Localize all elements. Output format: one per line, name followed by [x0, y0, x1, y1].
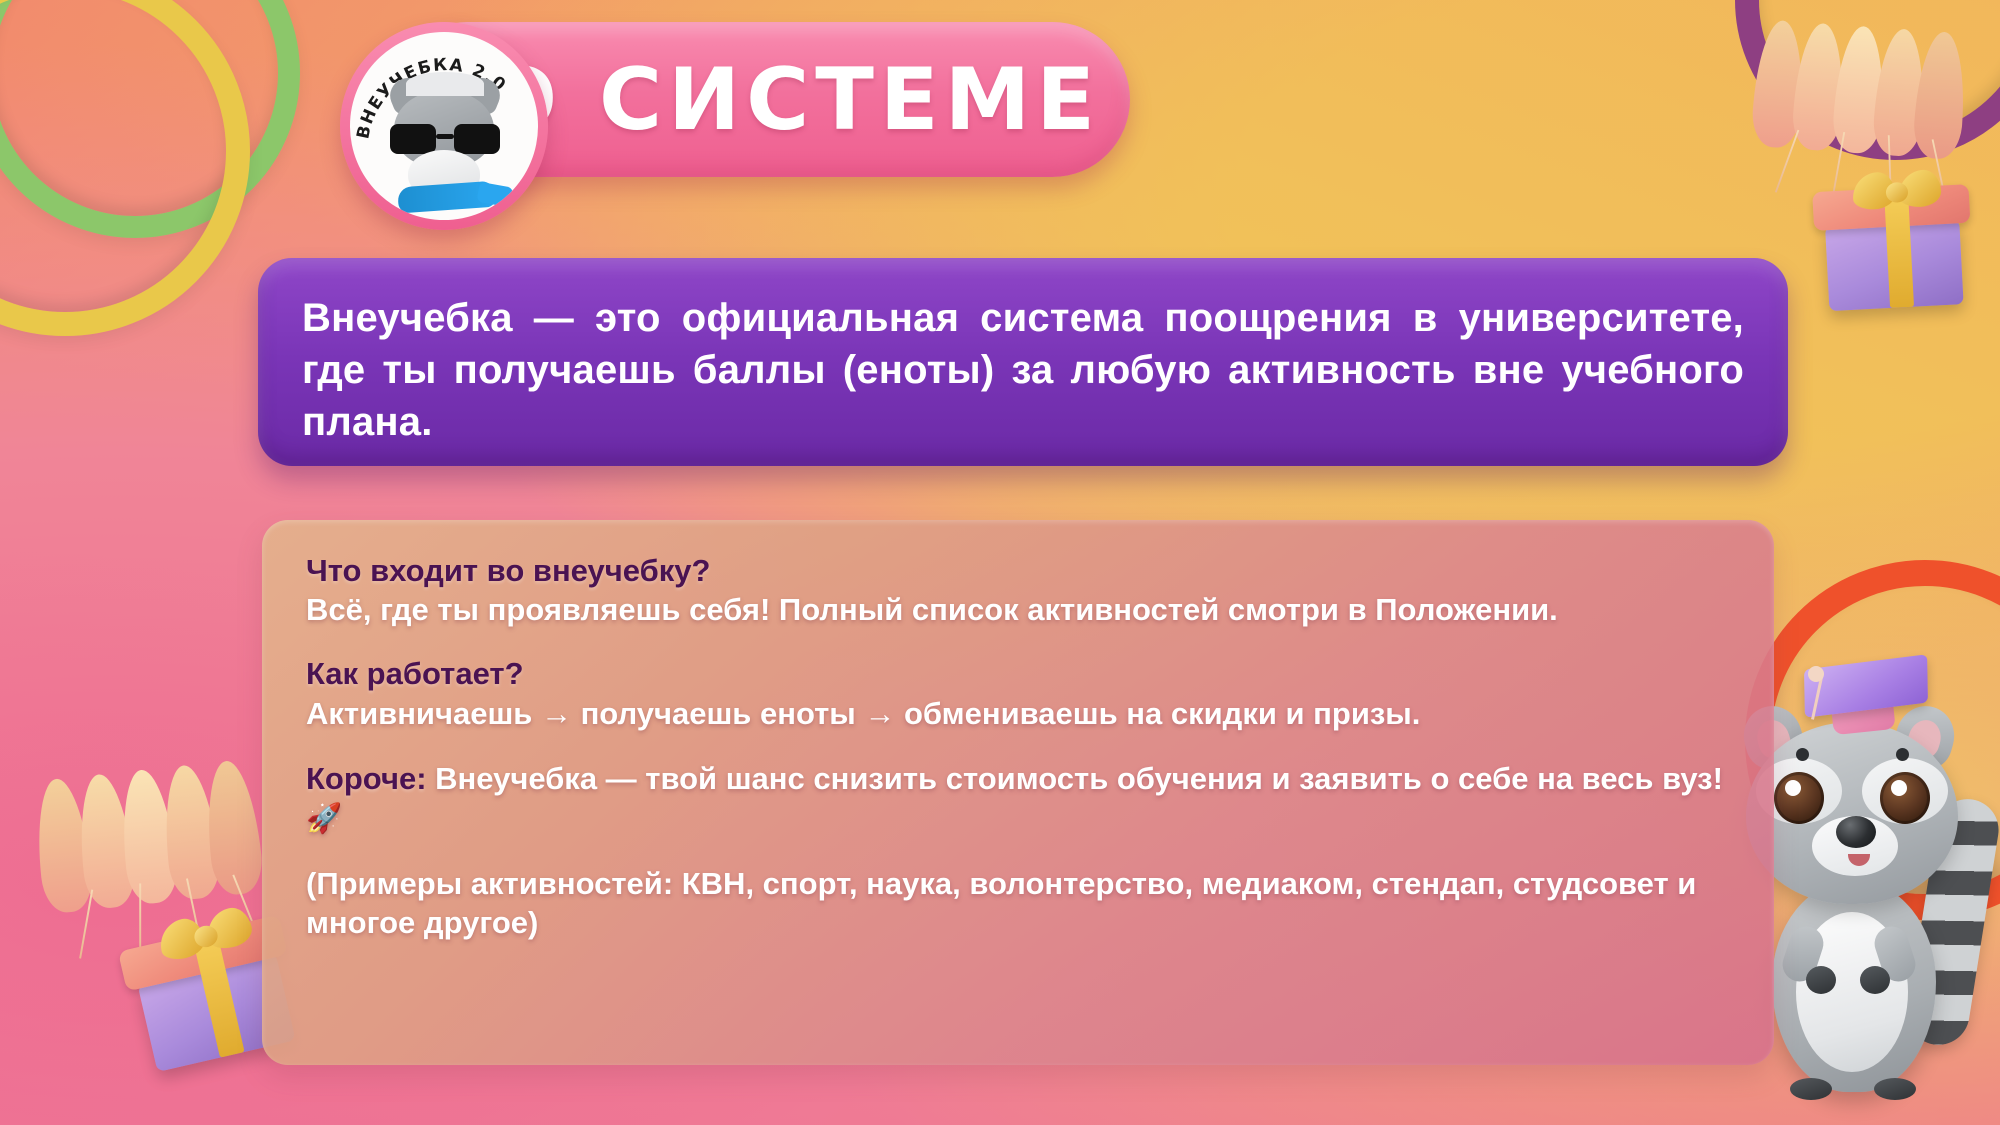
faq-answer: Активничаешь → получаешь еноты → обменив…: [306, 694, 1730, 733]
summary-lead-in: Короче:: [306, 761, 427, 796]
rocket-icon: 🚀: [306, 803, 342, 835]
logo-badge: ВНЕУЧЕБКА 2.0: [340, 22, 548, 230]
lead-text: Внеучебка — это официальная система поощ…: [302, 292, 1744, 448]
summary-text: Короче: Внеучебка — твой шанс снизить ст…: [306, 759, 1730, 838]
faq-question: Как работает?: [306, 655, 1730, 693]
content-box: Что входит во внеучебку? Всё, где ты про…: [262, 520, 1774, 1065]
faq-answer: Всё, где ты проявляешь себя! Полный спис…: [306, 590, 1730, 629]
gift-box-icon: [1812, 184, 1975, 313]
logo-raccoon-tuft: [406, 72, 484, 96]
examples-text: (Примеры активностей: КВН, спорт, наука,…: [306, 864, 1730, 942]
summary-body: Внеучебка — твой шанс снизить стоимость …: [427, 761, 1723, 796]
lead-callout-box: Внеучебка — это официальная система поощ…: [258, 258, 1788, 466]
examples-block: (Примеры активностей: КВН, спорт, наука,…: [306, 864, 1730, 942]
faq-block: Что входит во внеучебку? Всё, где ты про…: [306, 552, 1730, 629]
faq-question: Что входит во внеучебку?: [306, 552, 1730, 590]
slide-canvas: О СИСТЕМЕ ВНЕУЧЕБКА 2.0 Внеучебк: [0, 0, 2000, 1125]
summary-block: Короче: Внеучебка — твой шанс снизить ст…: [306, 759, 1730, 838]
faq-block: Как работает? Активничаешь → получаешь е…: [306, 655, 1730, 732]
logo-inner: ВНЕУЧЕБКА 2.0: [350, 32, 538, 220]
